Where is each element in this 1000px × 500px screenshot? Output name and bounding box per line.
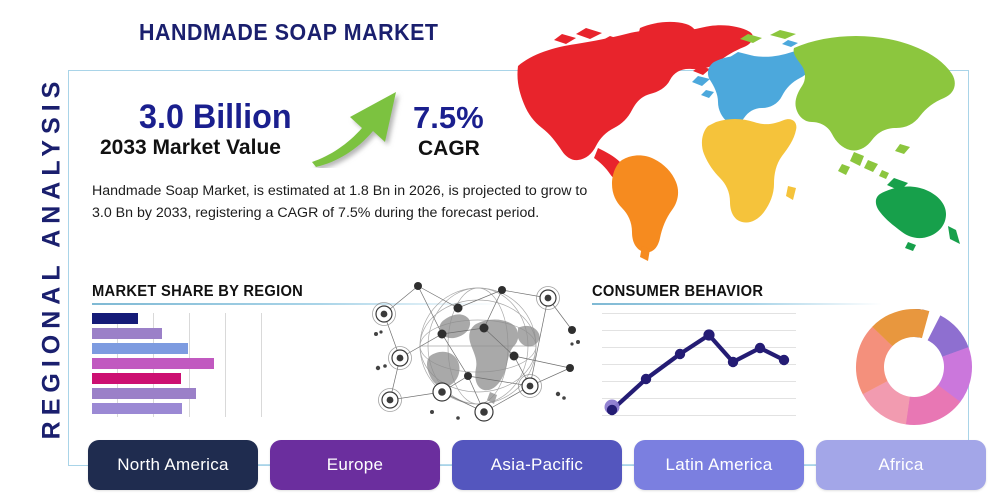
bar-row <box>92 343 188 354</box>
market-value-figure: 3.0 Billion <box>139 98 292 137</box>
consumer-donut-chart <box>855 308 973 426</box>
market-share-bar-chart <box>92 313 292 417</box>
consumer-behavior-line-chart <box>602 313 796 417</box>
growth-arrow-icon <box>310 86 405 168</box>
bar-row <box>92 403 182 414</box>
section-rule-right <box>592 303 882 305</box>
region-pill-label: Africa <box>878 455 923 475</box>
bar-row <box>92 373 181 384</box>
world-map-icon <box>502 14 972 269</box>
infographic-root: REGIONAL ANALYSIS HANDMADE SOAP MARKET 3… <box>0 0 1000 500</box>
cagr-label: CAGR <box>418 137 480 161</box>
region-pill-north-america[interactable]: North America <box>88 440 258 490</box>
market-value-label: 2033 Market Value <box>100 136 281 160</box>
bar-row <box>92 388 196 399</box>
page-title: HANDMADE SOAP MARKET <box>139 19 439 46</box>
bar-row <box>92 358 214 369</box>
region-pill-row: North America Europe Asia-Pacific Latin … <box>80 440 980 490</box>
region-pill-latin-america[interactable]: Latin America <box>634 440 804 490</box>
region-pill-label: North America <box>117 455 229 475</box>
bar-row <box>92 313 138 324</box>
region-pill-europe[interactable]: Europe <box>270 440 440 490</box>
side-label: REGIONAL ANALYSIS <box>38 63 67 453</box>
section-header-market-share: MARKET SHARE BY REGION <box>92 283 303 301</box>
cagr-figure: 7.5% <box>413 100 484 136</box>
region-pill-label: Asia-Pacific <box>491 455 583 475</box>
region-pill-label: Europe <box>327 455 384 475</box>
bar-row <box>92 328 162 339</box>
region-pill-asia-pacific[interactable]: Asia-Pacific <box>452 440 622 490</box>
region-pill-label: Latin America <box>666 455 773 475</box>
section-header-consumer-behavior: CONSUMER BEHAVIOR <box>592 283 763 301</box>
region-pill-africa[interactable]: Africa <box>816 440 986 490</box>
global-network-icon <box>372 272 584 424</box>
